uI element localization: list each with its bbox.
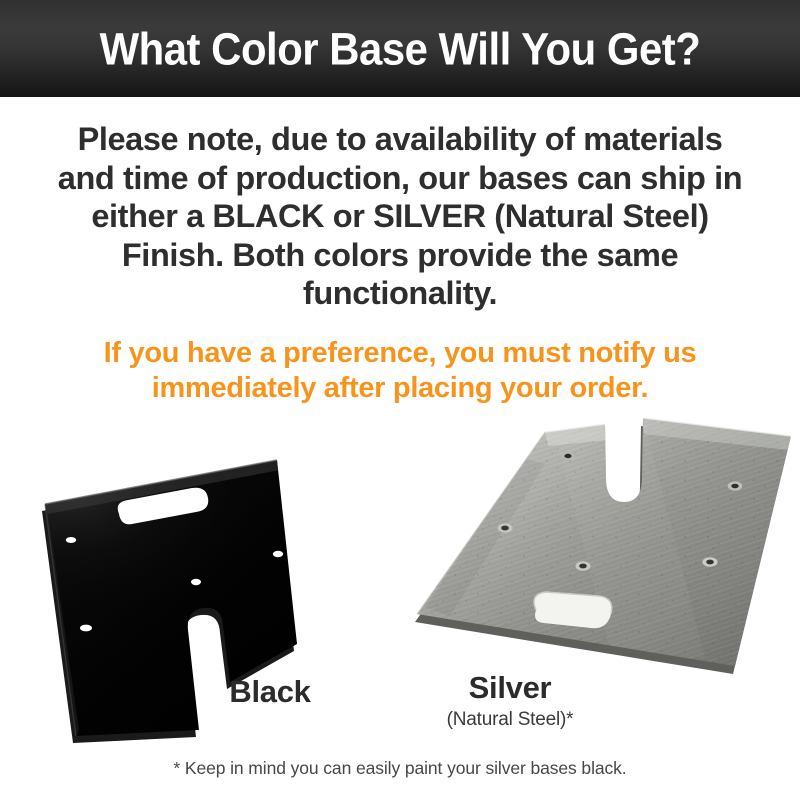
- silver-product-subcaption: (Natural Steel)*: [410, 710, 610, 729]
- black-plate-hole-right: [273, 551, 283, 557]
- black-base-plate-photo: [18, 430, 318, 760]
- silver-plate-handle-slot: [534, 592, 612, 628]
- black-product-caption: Black: [170, 676, 370, 707]
- silver-plate-hole-center: [575, 561, 590, 571]
- page-title: What Color Base Will You Get?: [28, 26, 772, 71]
- black-plate-hole-lower-left: [80, 625, 92, 632]
- footnote-text: * Keep in mind you can easily paint your…: [0, 760, 800, 778]
- silver-product-caption: Silver: [410, 672, 610, 703]
- silver-plate-hole-mid-left: [497, 523, 512, 533]
- black-plate-hole-center: [191, 579, 201, 585]
- availability-note-text: Please note, due to availability of mate…: [50, 120, 750, 313]
- black-base-plate-illustration: [18, 430, 318, 760]
- preference-warning-text: If you have a preference, you must notif…: [40, 336, 760, 406]
- product-photo-row: [0, 418, 800, 738]
- silver-plate-hole-upper-left: [561, 452, 575, 461]
- color-base-infographic: What Color Base Will You Get? Please not…: [0, 0, 800, 800]
- black-plate-hole-upper-left: [66, 537, 76, 543]
- silver-plate-hole-lower-right: [702, 557, 717, 567]
- header-banner: What Color Base Will You Get?: [0, 0, 800, 97]
- silver-plate-hole-upper-right: [728, 481, 743, 490]
